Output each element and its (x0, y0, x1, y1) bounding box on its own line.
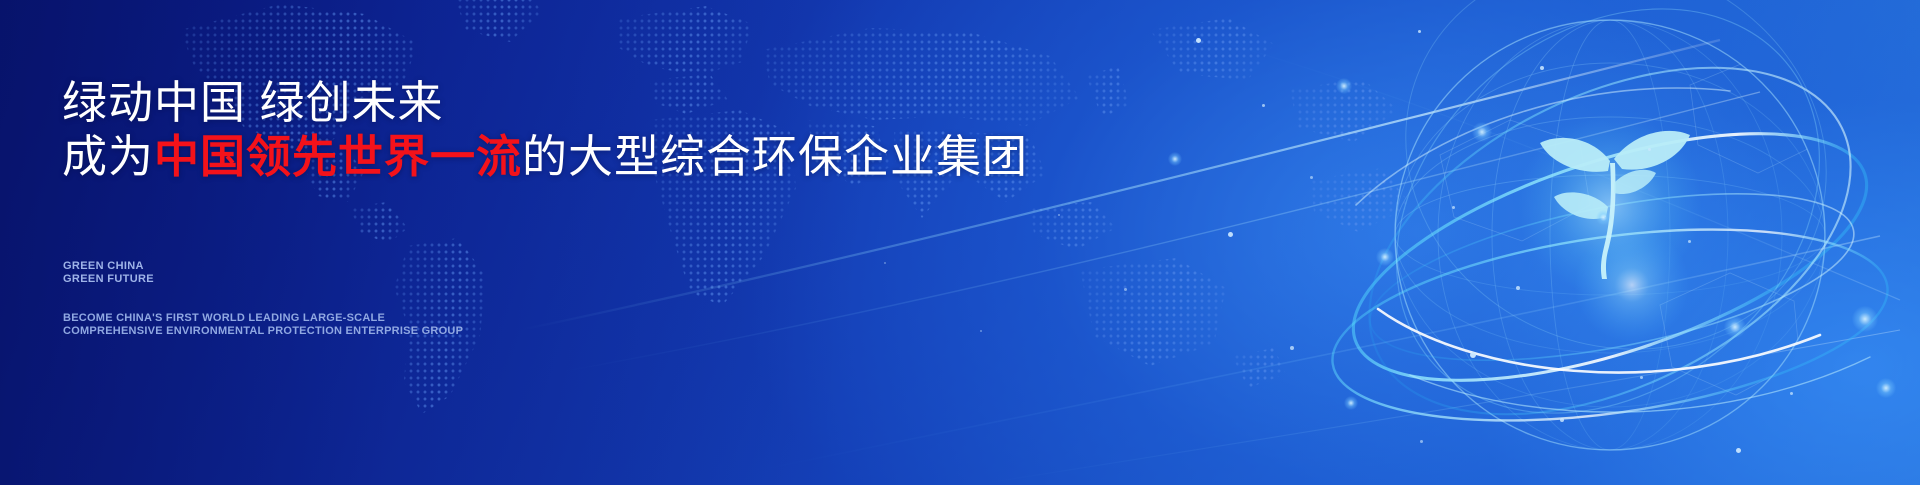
headline-prefix: 成为 (62, 131, 154, 182)
description-line-2: COMPREHENSIVE ENVIRONMENTAL PROTECTION E… (63, 325, 463, 338)
hero-banner: 绿动中国 绿创未来 成为中国领先世界一流的大型综合环保企业集团 GREEN CH… (0, 0, 1920, 485)
banner-content: 绿动中国 绿创未来 成为中国领先世界一流的大型综合环保企业集团 GREEN CH… (0, 0, 1100, 485)
headline-line-2: 成为中国领先世界一流的大型综合环保企业集团 (62, 130, 1062, 184)
description-line-1: BECOME CHINA'S FIRST WORLD LEADING LARGE… (63, 312, 463, 325)
headline-suffix: 的大型综合环保企业集团 (522, 131, 1028, 182)
headline-highlight: 中国领先世界一流 (154, 131, 522, 182)
slogan-line-2: GREEN FUTURE (63, 273, 154, 286)
slogan-english: GREEN CHINA GREEN FUTURE (63, 260, 154, 286)
description-english: BECOME CHINA'S FIRST WORLD LEADING LARGE… (63, 312, 463, 338)
page-title: 绿动中国 绿创未来 成为中国领先世界一流的大型综合环保企业集团 (62, 76, 1062, 184)
slogan-line-1: GREEN CHINA (63, 260, 154, 273)
headline-line-1: 绿动中国 绿创未来 (62, 76, 1062, 130)
